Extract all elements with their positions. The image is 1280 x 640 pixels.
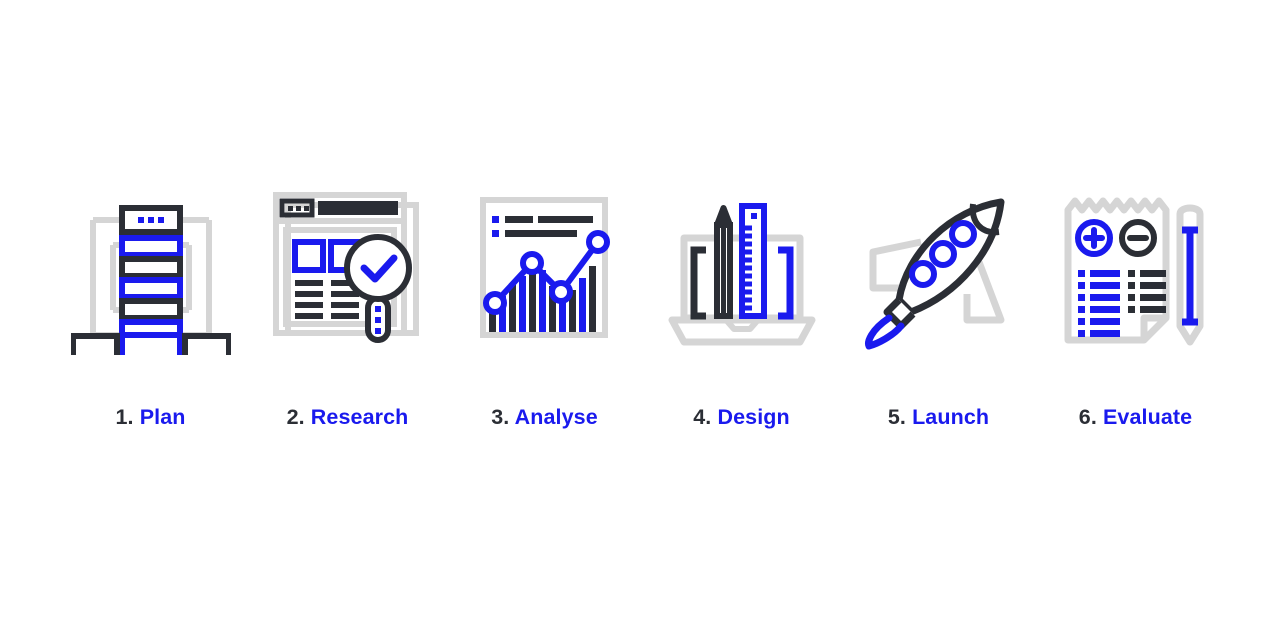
step-label-analyse: 3. Analyse bbox=[491, 407, 598, 429]
step-number: 5. bbox=[888, 405, 906, 429]
step-evaluate[interactable]: 6. Evaluate bbox=[1037, 190, 1234, 429]
step-research[interactable]: 2. Research bbox=[249, 190, 446, 429]
step-number: 1. bbox=[115, 405, 133, 429]
receipt-pencil-icon bbox=[1056, 190, 1216, 355]
step-label-design: 4. Design bbox=[693, 407, 790, 429]
step-number: 6. bbox=[1079, 405, 1097, 429]
step-label-research: 2. Research bbox=[287, 407, 409, 429]
research-icon-container bbox=[268, 190, 428, 355]
design-icon-container bbox=[662, 190, 822, 355]
step-launch[interactable]: 5. Launch bbox=[840, 190, 1037, 429]
browser-magnifier-icon bbox=[268, 190, 428, 355]
flowchart-stack-icon bbox=[71, 190, 231, 355]
analyse-icon-container bbox=[465, 190, 625, 355]
step-name: Analyse bbox=[515, 405, 598, 429]
step-number: 4. bbox=[693, 405, 711, 429]
step-plan[interactable]: 1. Plan bbox=[52, 190, 249, 429]
step-name: Launch bbox=[912, 405, 989, 429]
process-infographic: 1. Plan bbox=[0, 0, 1280, 640]
rocket-icon bbox=[859, 190, 1019, 355]
step-name: Design bbox=[717, 405, 789, 429]
step-name: Plan bbox=[140, 405, 186, 429]
step-label-evaluate: 6. Evaluate bbox=[1079, 407, 1192, 429]
step-label-launch: 5. Launch bbox=[888, 407, 989, 429]
launch-icon-container bbox=[859, 190, 1019, 355]
step-number: 2. bbox=[287, 405, 305, 429]
step-analyse[interactable]: 3. Analyse bbox=[446, 190, 643, 429]
evaluate-icon-container bbox=[1056, 190, 1216, 355]
step-label-plan: 1. Plan bbox=[115, 407, 185, 429]
step-name: Evaluate bbox=[1103, 405, 1192, 429]
step-design[interactable]: 4. Design bbox=[643, 190, 840, 429]
bar-line-chart-icon bbox=[465, 190, 625, 355]
plan-icon-container bbox=[71, 190, 231, 355]
step-number: 3. bbox=[491, 405, 509, 429]
step-name: Research bbox=[311, 405, 409, 429]
laptop-pencil-ruler-icon bbox=[662, 190, 822, 355]
